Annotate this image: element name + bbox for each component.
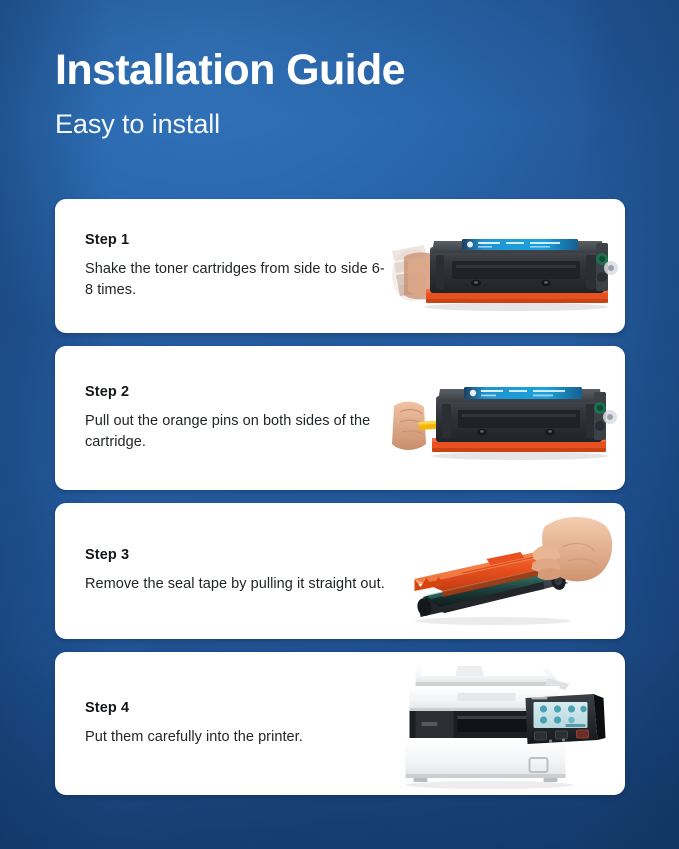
step-1-label: Step 1 xyxy=(85,232,385,248)
page-subtitle: Easy to install xyxy=(55,109,615,140)
step-4-media xyxy=(385,652,625,795)
step-4-text: Step 4 Put them carefully into the print… xyxy=(55,700,385,748)
steps-list: Step 1 Shake the toner cartridges from s… xyxy=(55,199,625,795)
cartridge-gears xyxy=(594,392,617,440)
printer-button-2 xyxy=(556,731,568,739)
cartridge-label xyxy=(462,239,578,250)
step-2-media xyxy=(385,346,625,490)
hand-gripping-tape xyxy=(532,517,613,581)
step-4-description: Put them carefully into the printer. xyxy=(85,727,385,748)
laser-printer-icon xyxy=(398,654,613,794)
step-card-3: Step 3 Remove the seal tape by pulling i… xyxy=(55,503,625,639)
step-3-text: Step 3 Remove the seal tape by pulling i… xyxy=(55,547,385,595)
step-2-description: Pull out the orange pins on both sides o… xyxy=(85,411,385,452)
toner-cartridge-orange-pin-icon xyxy=(390,362,620,474)
step-2-label: Step 2 xyxy=(85,384,385,400)
step-card-2: Step 2 Pull out the orange pins on both … xyxy=(55,346,625,490)
step-3-media xyxy=(385,503,625,639)
step-card-1: Step 1 Shake the toner cartridges from s… xyxy=(55,199,625,333)
step-4-label: Step 4 xyxy=(85,700,385,716)
printer-output-slot xyxy=(458,693,516,701)
step-3-label: Step 3 xyxy=(85,547,385,563)
toner-cartridge-seal-tape-icon xyxy=(393,511,618,631)
toner-cartridge-shaking-icon xyxy=(390,211,620,321)
step-1-media xyxy=(385,199,625,333)
printer-control-panel xyxy=(526,694,606,744)
printer-button-1 xyxy=(535,732,547,740)
printer-stop-button xyxy=(577,730,589,738)
step-1-description: Shake the toner cartridges from side to … xyxy=(85,259,385,300)
step-1-text: Step 1 Shake the toner cartridges from s… xyxy=(55,232,385,300)
step-card-4: Step 4 Put them carefully into the print… xyxy=(55,652,625,795)
cartridge-gears xyxy=(596,243,618,291)
page-header: Installation Guide Easy to install xyxy=(55,47,615,140)
page-title: Installation Guide xyxy=(55,47,615,93)
cartridge-label xyxy=(464,387,582,399)
step-3-description: Remove the seal tape by pulling it strai… xyxy=(85,574,385,595)
step-2-text: Step 2 Pull out the orange pins on both … xyxy=(55,384,385,452)
